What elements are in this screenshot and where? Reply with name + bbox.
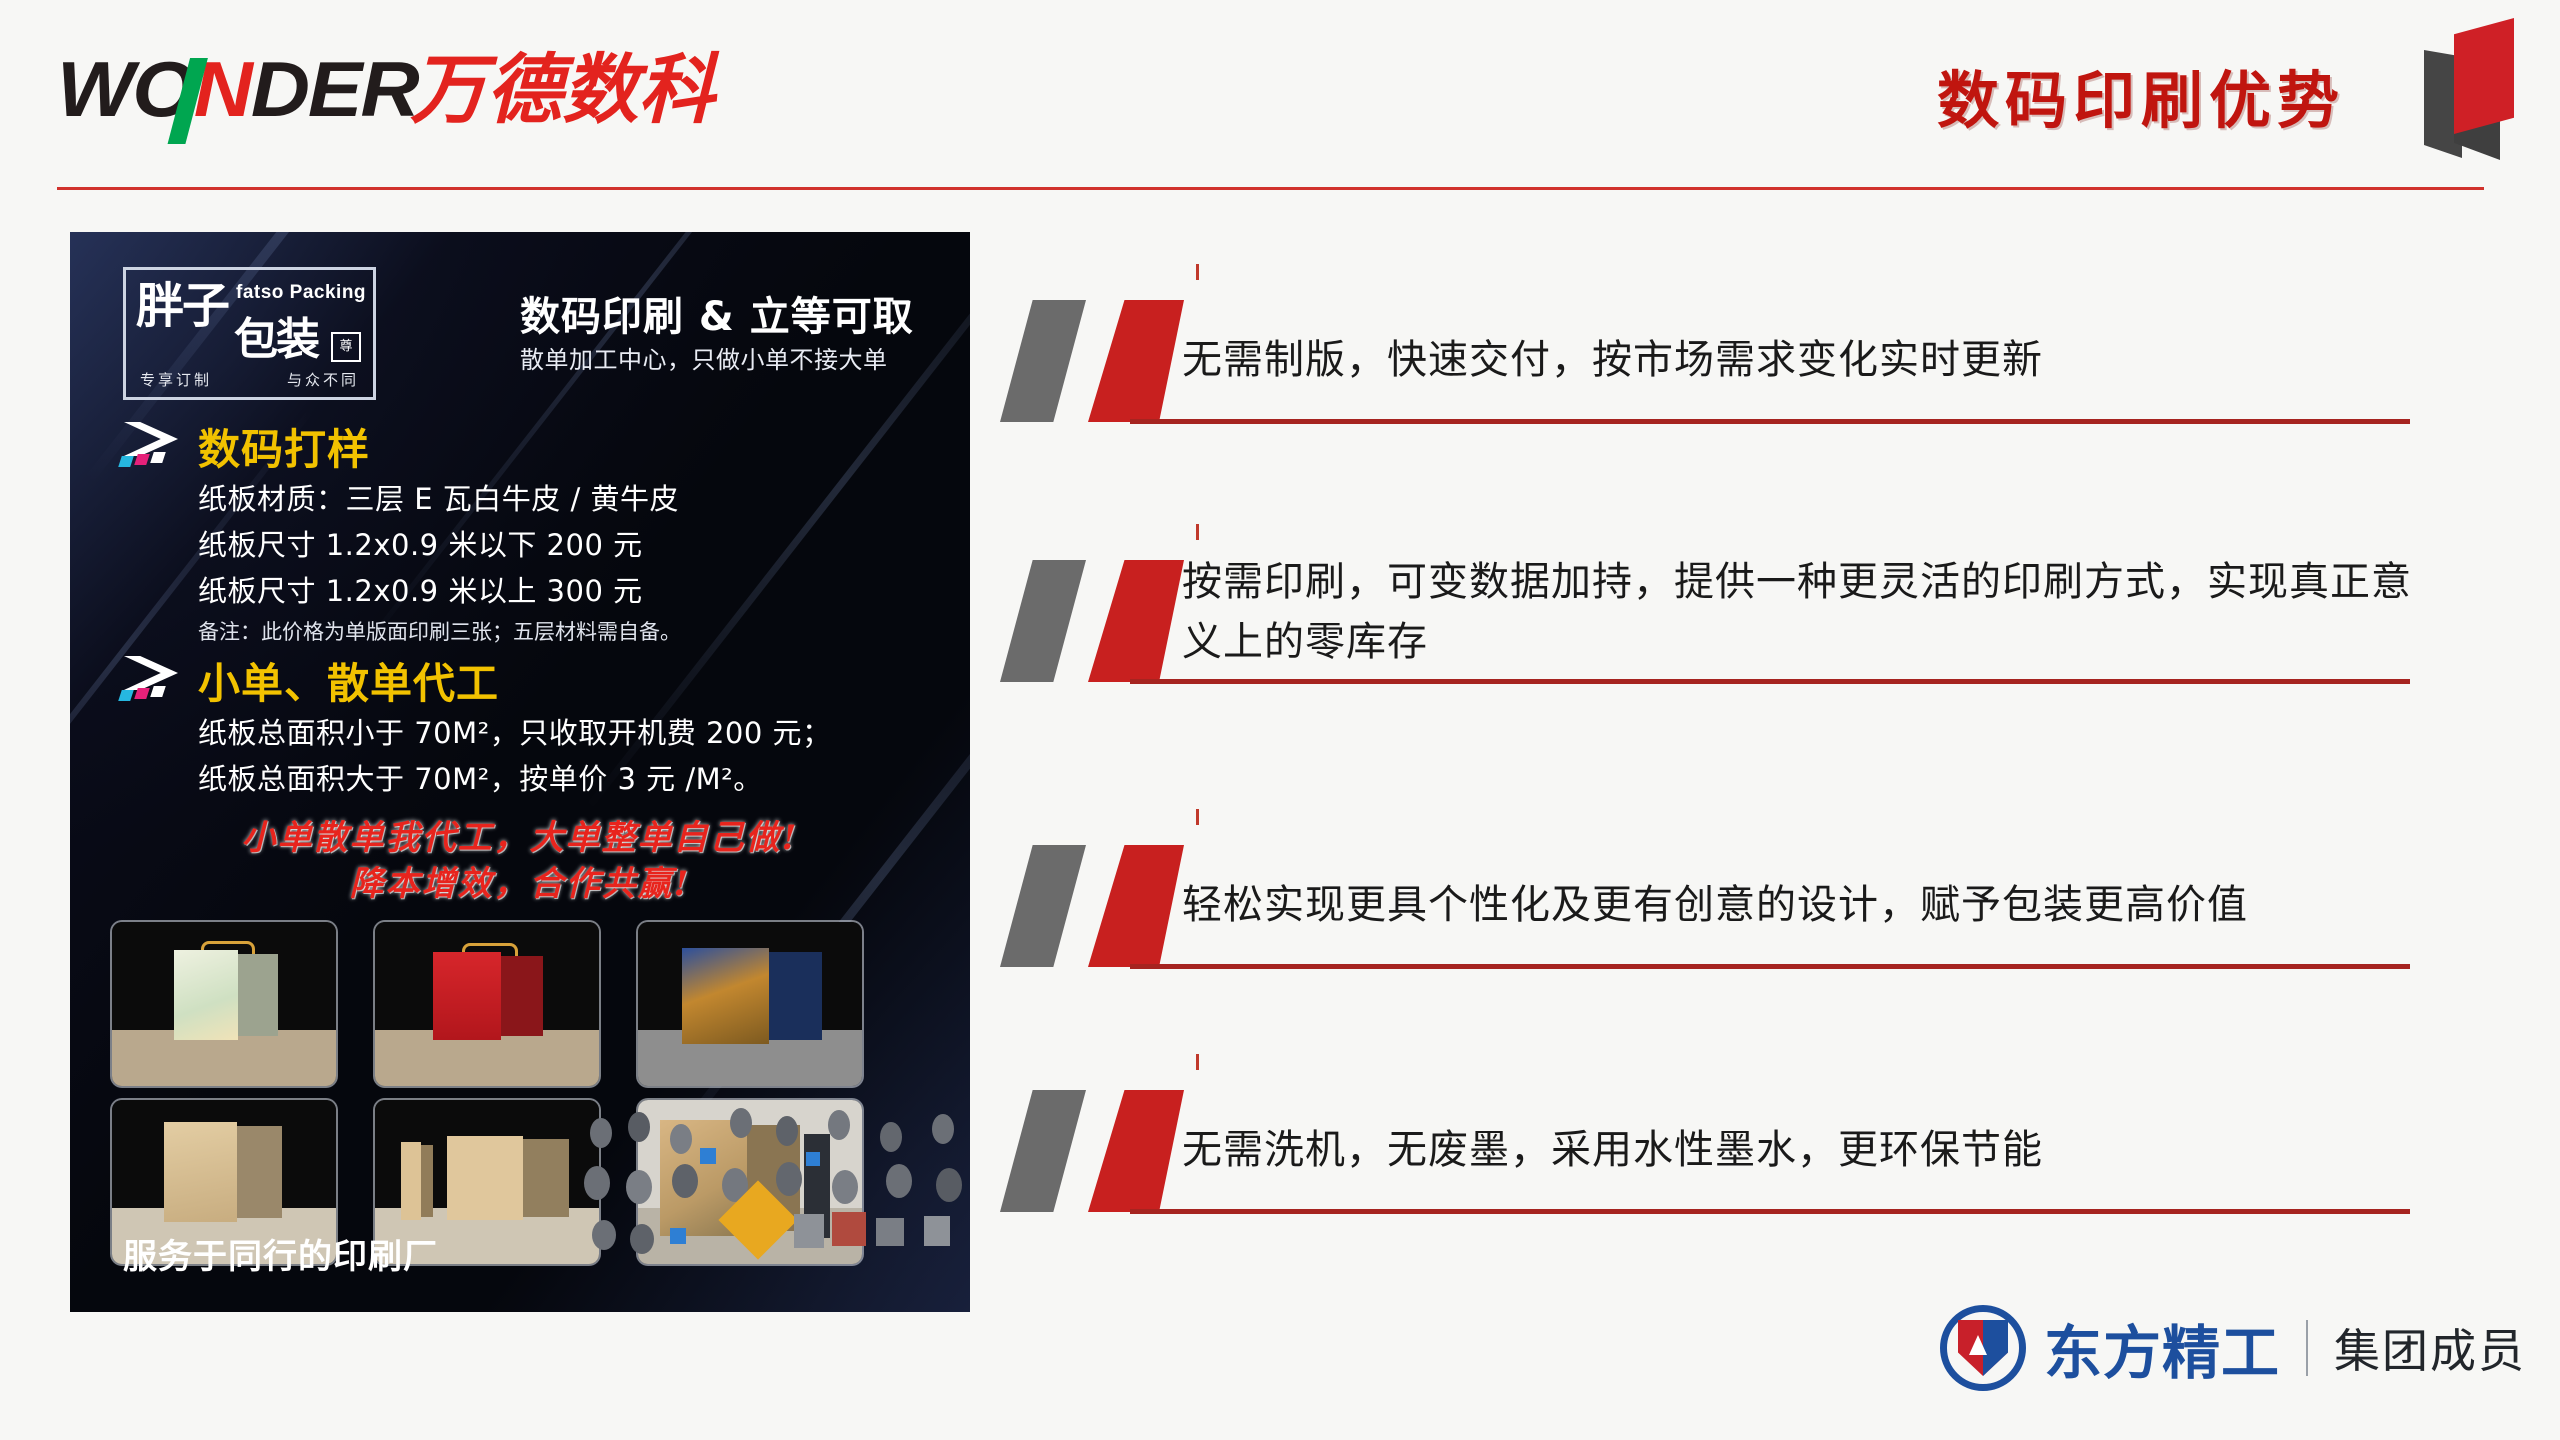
box-front [401, 1142, 421, 1220]
product-box [447, 1136, 569, 1220]
poster-footer-text: 服务于同行的印刷厂 [123, 1229, 438, 1278]
bullet-marker-red [1088, 1090, 1184, 1212]
advantage-text-1: 无需制版，快速交付，按市场需求变化实时更新 [1182, 330, 2412, 390]
arrow-dot-white [150, 452, 166, 463]
product-photo [112, 922, 336, 1086]
bullet-marker-grey [1000, 845, 1086, 967]
bullet-underline [1130, 679, 2410, 684]
promo-poster-image: 胖子 fatso Packing 包装 尊 专享订制 与众不同 数码印刷 & 立… [70, 232, 970, 1312]
box-front [447, 1136, 523, 1220]
wonder-wordmark: WONDER [57, 50, 417, 128]
footer-logo-divider [2306, 1320, 2308, 1376]
fatso-logo-cn-top: 胖子 [136, 282, 228, 330]
fatso-tagline-right: 与众不同 [287, 369, 359, 390]
fatso-logo-cn-bottom: 包装 [234, 318, 318, 362]
bullet-tick-mark [1196, 264, 1199, 280]
box-side [421, 1145, 433, 1217]
wonder-chinese-name: 万德数科 [410, 52, 714, 128]
chevron-arrow-icon [118, 422, 188, 472]
poster-slogan-line-1: 小单散单我代工，大单整单自己做! [70, 810, 970, 859]
fatso-packing-logo: 胖子 fatso Packing 包装 尊 专享订制 与众不同 [123, 267, 376, 400]
arrow-dot-white [150, 686, 166, 697]
bullet-underline [1130, 419, 2410, 424]
dongfang-logo-icon [1940, 1305, 2026, 1391]
arrow-dot-cyan [118, 456, 134, 467]
box-front [164, 1122, 237, 1222]
bullet-marker-red [1088, 300, 1184, 422]
box-side [501, 956, 543, 1037]
page-header: WONDER 万德数科 数码印刷优势 [0, 0, 2560, 200]
wordmark-n: N [194, 50, 251, 128]
box-side [237, 1126, 282, 1218]
bullet-marker-red [1088, 560, 1184, 682]
header-divider [57, 187, 2484, 190]
dongfang-logo-name: 东方精工 [2044, 1306, 2280, 1390]
bullet-marker-red [1088, 845, 1184, 967]
bullet-tick-mark [1196, 809, 1199, 825]
poster-subline: 散单加工中心，只做小单不接大单 [520, 340, 950, 375]
section-1-line-2: 纸板尺寸 1.2x0.9 米以下 200 元 [198, 522, 643, 564]
corner-red-shape [2454, 18, 2514, 134]
arrow-dot-magenta [134, 454, 150, 465]
section-1-line-3: 纸板尺寸 1.2x0.9 米以上 300 元 [198, 568, 643, 610]
box-front [682, 948, 769, 1044]
product-photo [375, 922, 599, 1086]
advantage-text-2: 按需印刷，可变数据加持，提供一种更灵活的印刷方式，实现真正意义上的零库存 [1182, 552, 2412, 672]
dongfang-jingong-footer-logo: 东方精工 集团成员 [1940, 1300, 2526, 1396]
fatso-tagline-left: 专享订制 [140, 369, 212, 390]
section-title-2: 小单、散单代工 [198, 650, 499, 711]
section-title-1: 数码打样 [198, 416, 370, 477]
section-1-line-1: 纸板材质：三层 E 瓦白牛皮 / 黄牛皮 [198, 476, 679, 518]
box-side [238, 954, 278, 1037]
arrow-dot-magenta [134, 688, 150, 699]
product-box [682, 948, 822, 1044]
section-2-line-2: 纸板总面积大于 70M²，按单价 3 元 /M²。 [198, 756, 763, 798]
wonder-brand-logo: WONDER 万德数科 [57, 48, 714, 128]
fatso-logo-en: fatso Packing [236, 282, 366, 304]
bullet-marker-grey [1000, 1090, 1086, 1212]
product-box [433, 952, 543, 1040]
product-photo [638, 922, 862, 1086]
arrow-shape [124, 656, 178, 690]
arrow-dot-cyan [118, 690, 134, 701]
fatso-logo-seal: 尊 [331, 332, 361, 362]
product-box [164, 1122, 282, 1222]
bullet-underline [1130, 1209, 2410, 1214]
poster-headline: 数码印刷 & 立等可取 [520, 284, 940, 342]
dongfang-logo-subtitle: 集团成员 [2334, 1315, 2526, 1381]
advantage-text-4: 无需洗机，无废墨，采用水性墨水，更环保节能 [1182, 1120, 2412, 1180]
dot-pattern-decoration [580, 1108, 970, 1312]
chevron-arrow-icon [118, 656, 188, 706]
box-front [433, 952, 501, 1040]
section-2-line-1: 纸板总面积小于 70M²，只收取开机费 200 元； [198, 710, 832, 752]
product-box [174, 950, 278, 1040]
poster-slogan-line-2: 降本增效，合作共赢! [70, 856, 970, 905]
bullet-marker-grey [1000, 560, 1086, 682]
advantage-text-3: 轻松实现更具个性化及更有创意的设计，赋予包装更高价值 [1182, 875, 2412, 935]
box-side [523, 1139, 569, 1216]
bullet-tick-mark [1196, 1054, 1199, 1070]
box-front [174, 950, 238, 1040]
page-title: 数码印刷优势 [1937, 50, 2345, 140]
product-box-small [401, 1142, 433, 1220]
bullet-underline [1130, 964, 2410, 969]
box-side [769, 952, 822, 1040]
bullet-tick-mark [1196, 524, 1199, 540]
section-1-note: 备注：此价格为单版面印刷三张；五层材料需自备。 [198, 616, 681, 646]
bullet-marker-grey [1000, 300, 1086, 422]
arrow-shape [124, 422, 178, 456]
wordmark-der: DER [251, 45, 418, 133]
corner-decoration-icon [2416, 8, 2520, 158]
